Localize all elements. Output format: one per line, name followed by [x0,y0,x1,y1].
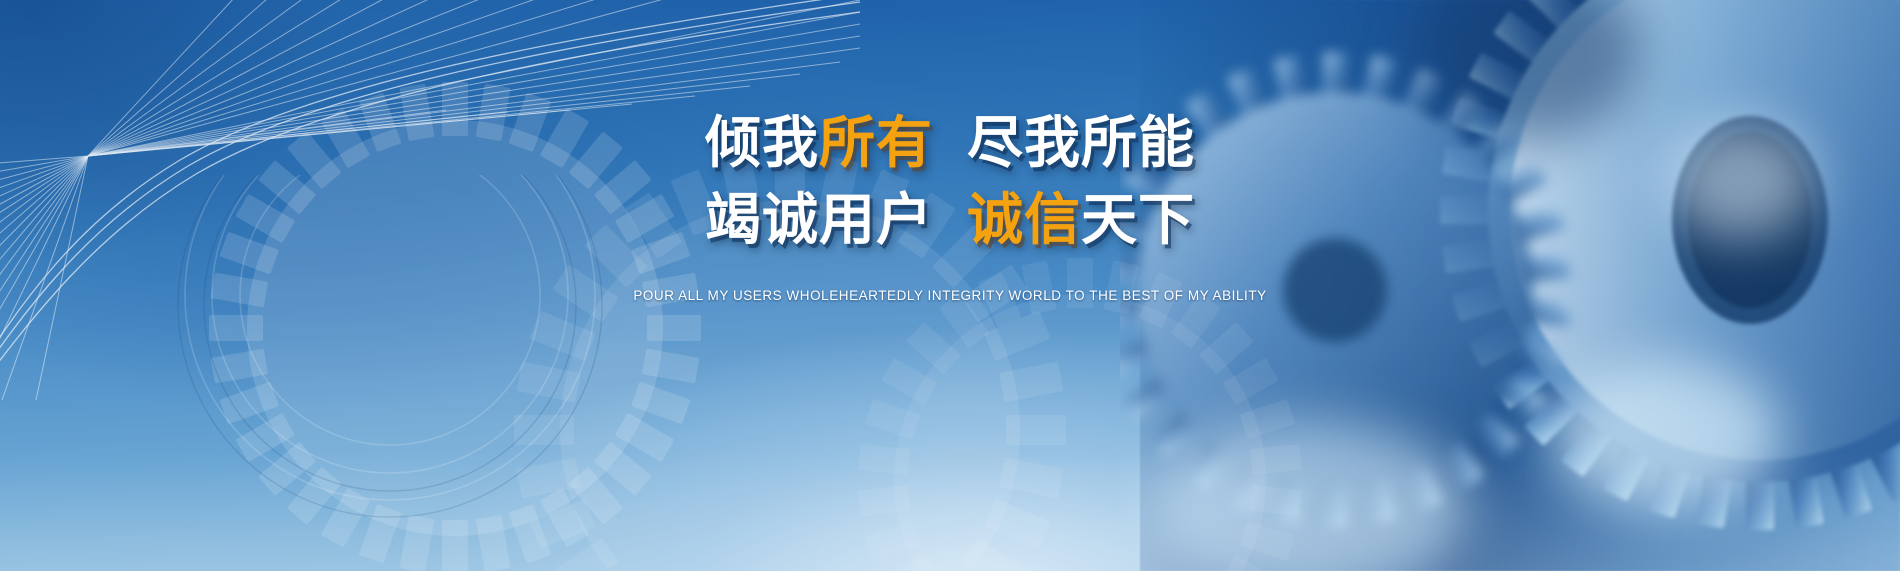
slogan-line-1: 倾我 所有 尽我所能 [705,112,1195,177]
slogan-l2-seg-2: 诚信 [967,189,1081,254]
banner-subtitle: POUR ALL MY USERS WHOLEHEARTEDLY INTEGRI… [633,288,1266,303]
slogan-l2-seg-1: 竭诚用户 [705,189,933,254]
slogan-l1-seg-2: 所有 [819,112,933,177]
hero-banner: 倾我 所有 尽我所能 竭诚用户 诚信 天下 POUR ALL MY USERS … [0,0,1900,571]
slogan-l1-seg-3: 尽我所能 [967,112,1195,177]
slogan-line-2: 竭诚用户 诚信 天下 [705,189,1195,254]
slogan-l1-seg-1: 倾我 [705,112,819,177]
slogan-l2-seg-3: 天下 [1081,189,1195,254]
